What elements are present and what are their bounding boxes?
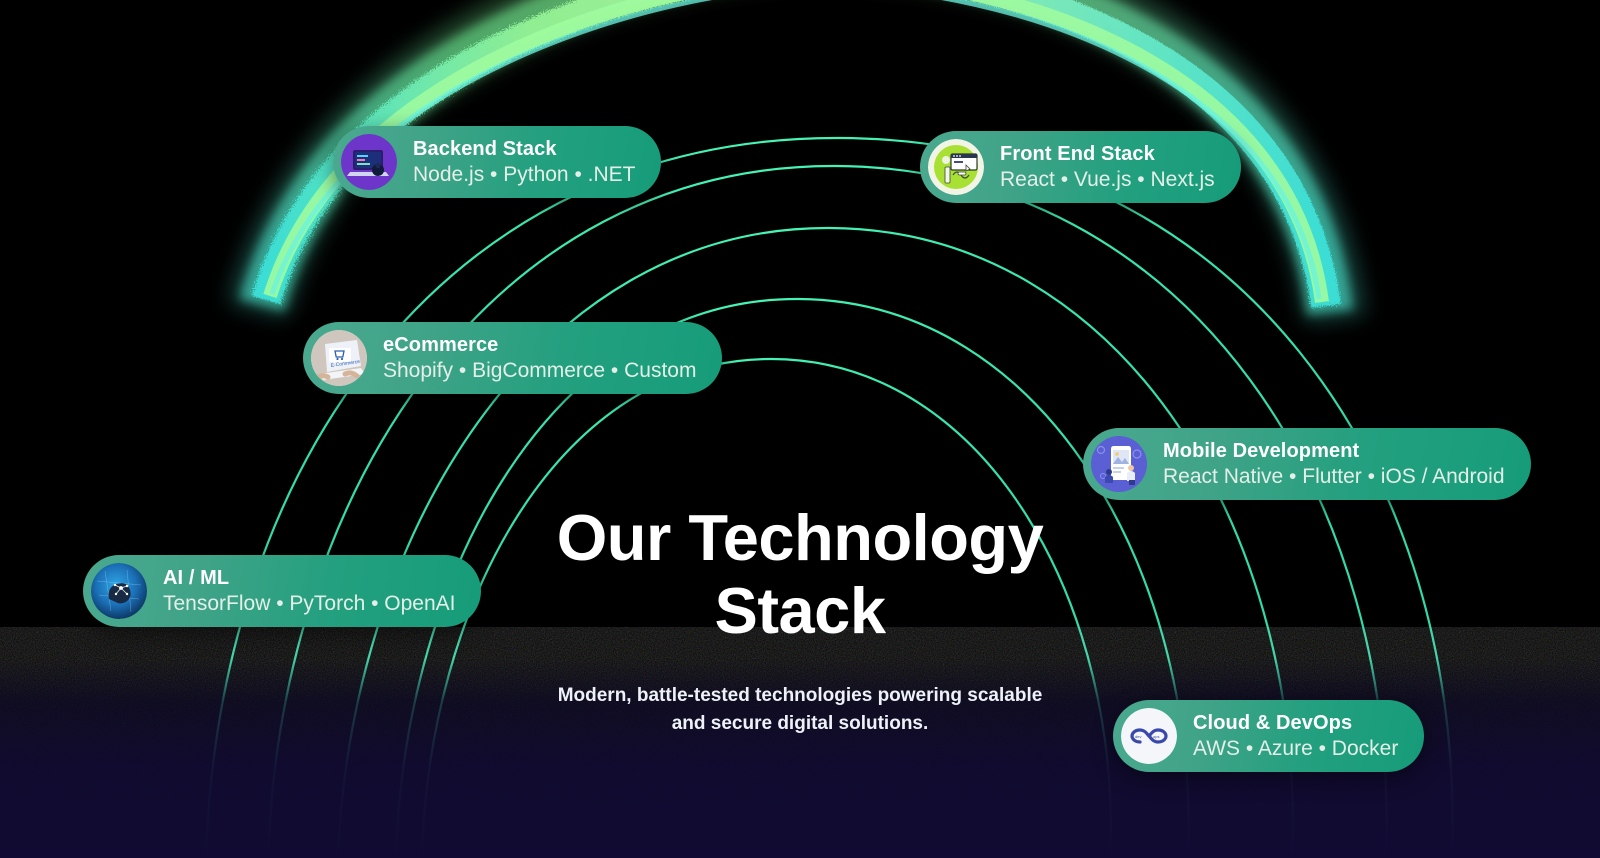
page-title: Our Technology Stack xyxy=(400,502,1200,648)
page-title-line2: Stack xyxy=(400,575,1200,648)
page-title-line1: Our Technology xyxy=(400,502,1200,575)
card-subtitle: AWS • Azure • Docker xyxy=(1193,737,1398,761)
tech-stack-infographic: Our Technology Stack Modern, battle-test… xyxy=(0,0,1600,858)
card-mobile-development[interactable]: Mobile Development React Native • Flutte… xyxy=(1083,428,1531,500)
card-title: Cloud & DevOps xyxy=(1193,712,1398,734)
card-title: eCommerce xyxy=(383,334,696,356)
card-subtitle: TensorFlow • PyTorch • OpenAI xyxy=(163,592,455,616)
card-ai-ml[interactable]: AI / ML TensorFlow • PyTorch • OpenAI xyxy=(83,555,481,627)
svg-text:dev: dev xyxy=(1135,734,1141,739)
browser-window-icon xyxy=(928,139,984,195)
page-subtitle-line1: Modern, battle-tested technologies power… xyxy=(450,682,1150,710)
page-subtitle-line2: and secure digital solutions. xyxy=(450,710,1150,738)
svg-text:ops: ops xyxy=(1153,734,1159,739)
devops-infinity-icon: dev ops xyxy=(1121,708,1177,764)
card-title: Front End Stack xyxy=(1000,143,1215,165)
shopping-laptop-icon: E-Commerce xyxy=(311,330,367,386)
card-front-end-stack[interactable]: Front End Stack React • Vue.js • Next.js xyxy=(920,131,1241,203)
card-subtitle: Node.js • Python • .NET xyxy=(413,163,635,187)
card-title: Backend Stack xyxy=(413,138,635,160)
card-cloud-devops[interactable]: dev ops Cloud & DevOps AWS • Azure • Doc… xyxy=(1113,700,1424,772)
page-subtitle: Modern, battle-tested technologies power… xyxy=(450,682,1150,737)
ai-brain-icon xyxy=(91,563,147,619)
card-title: AI / ML xyxy=(163,567,455,589)
card-backend-stack[interactable]: Backend Stack Node.js • Python • .NET xyxy=(333,126,661,198)
card-ecommerce[interactable]: E-Commerce eCommerce Shopify • BigCommer… xyxy=(303,322,722,394)
card-title: Mobile Development xyxy=(1163,440,1505,462)
card-subtitle: Shopify • BigCommerce • Custom xyxy=(383,359,696,383)
card-subtitle: React Native • Flutter • iOS / Android xyxy=(1163,465,1505,489)
smartphone-people-icon xyxy=(1091,436,1147,492)
card-subtitle: React • Vue.js • Next.js xyxy=(1000,168,1215,192)
laptop-code-icon xyxy=(341,134,397,190)
